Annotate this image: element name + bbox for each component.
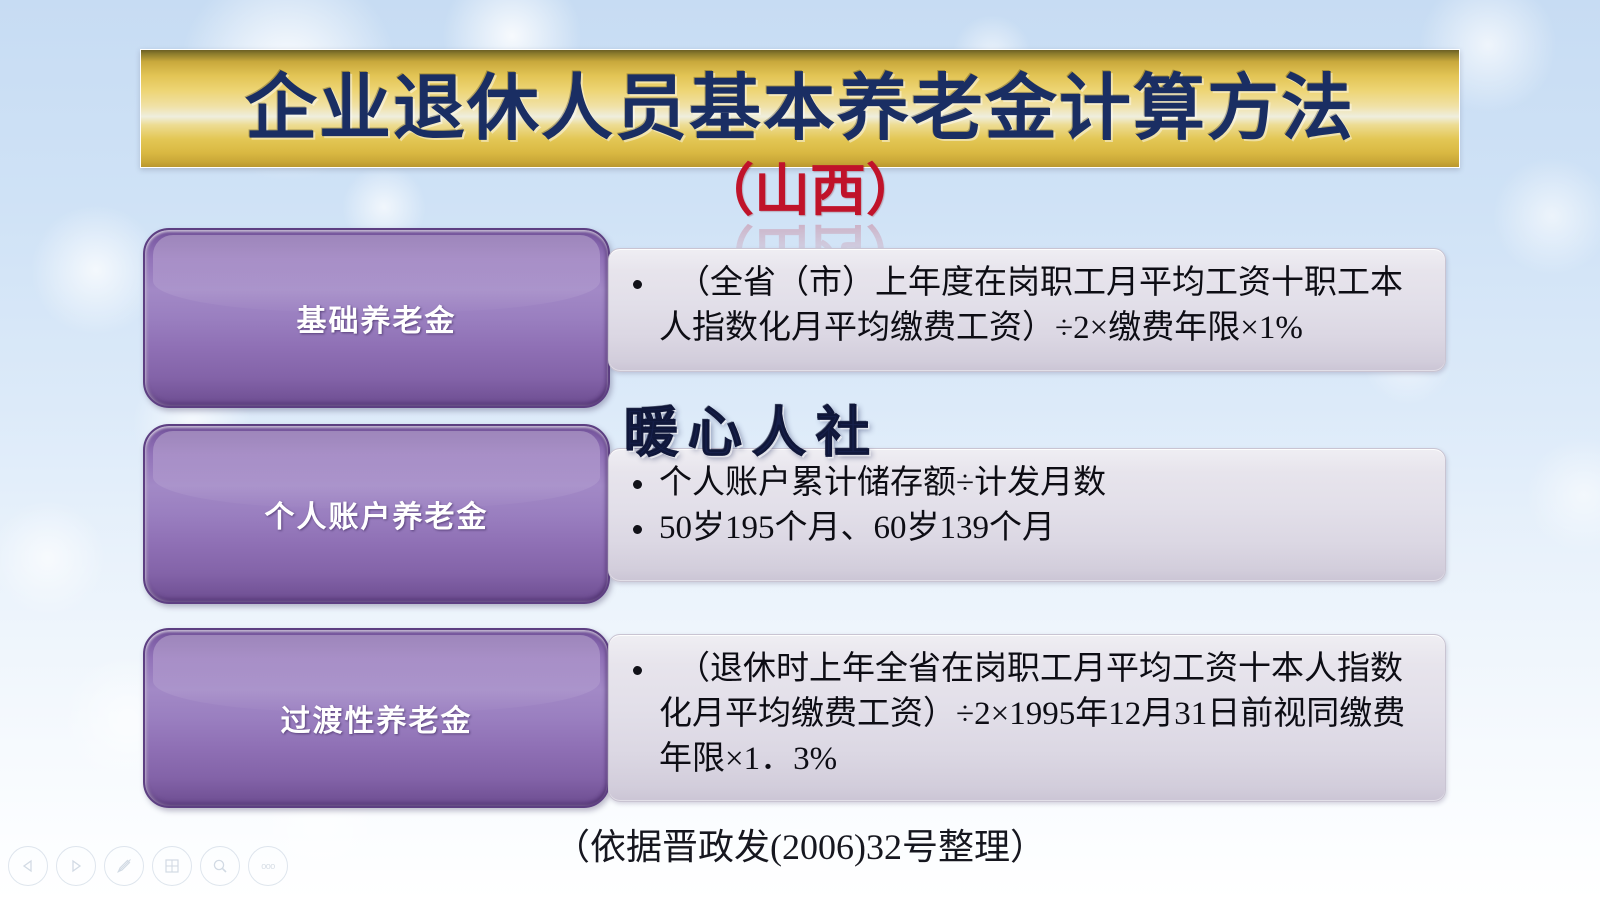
more-options-button[interactable]: ooo: [248, 846, 288, 886]
category-label: 基础养老金: [297, 296, 457, 340]
title-banner: 企业退休人员基本养老金计算方法: [140, 49, 1460, 168]
triangle-left-icon: [21, 859, 35, 873]
category-box-transitional-pension[interactable]: 过渡性养老金: [143, 628, 610, 808]
formula-panel-3: （退休时上年全省在岗职工月平均工资十本人指数化月平均缴费工资）÷2×1995年1…: [608, 634, 1446, 802]
bullet-list-1: （全省（市）上年度在岗职工月平均工资十职工本人指数化月平均缴费工资）÷2×缴费年…: [625, 261, 1427, 351]
subtitle: （山西）: [690, 163, 930, 222]
content-row-1: 基础养老金 （全省（市）上年度在岗职工月平均工资十职工本人指数化月平均缴费工资）…: [0, 228, 1600, 408]
content-row-3: 过渡性养老金 （退休时上年全省在岗职工月平均工资十本人指数化月平均缴费工资）÷2…: [0, 628, 1600, 808]
category-box-personal-account-pension[interactable]: 个人账户养老金: [143, 424, 610, 604]
magnifier-icon: [211, 857, 229, 875]
page-title: 企业退休人员基本养老金计算方法: [245, 73, 1355, 145]
zoom-button[interactable]: [200, 846, 240, 886]
list-item: 个人账户累计储存额÷计发月数: [625, 461, 1427, 506]
list-item: （全省（市）上年度在岗职工月平均工资十职工本人指数化月平均缴费工资）÷2×缴费年…: [625, 261, 1427, 351]
category-box-basic-pension[interactable]: 基础养老金: [143, 228, 610, 408]
pen-annotate-button[interactable]: [104, 846, 144, 886]
list-item: （退休时上年全省在岗职工月平均工资十本人指数化月平均缴费工资）÷2×1995年1…: [625, 647, 1427, 782]
pen-icon: [115, 857, 133, 875]
previous-slide-button[interactable]: [8, 846, 48, 886]
formula-panel-2: 个人账户累计储存额÷计发月数 50岁195个月、60岁139个月: [608, 448, 1446, 582]
bullet-list-3: （退休时上年全省在岗职工月平均工资十本人指数化月平均缴费工资）÷2×1995年1…: [625, 647, 1427, 782]
slide-grid-button[interactable]: [152, 846, 192, 886]
list-item: 50岁195个月、60岁139个月: [625, 506, 1427, 551]
presentation-slide: 企业退休人员基本养老金计算方法 （山西） （山西） 基础养老金 （全省（市）上年…: [0, 0, 1600, 900]
more-icon: ooo: [261, 861, 275, 871]
triangle-right-icon: [69, 859, 83, 873]
watermark: 暖心人社: [624, 388, 880, 467]
grid-icon: [163, 857, 181, 875]
category-label: 过渡性养老金: [281, 696, 473, 740]
category-label: 个人账户养老金: [265, 492, 489, 536]
player-toolbar: ooo: [8, 846, 288, 886]
next-slide-button[interactable]: [56, 846, 96, 886]
bullet-list-2: 个人账户累计储存额÷计发月数 50岁195个月、60岁139个月: [625, 461, 1427, 551]
formula-panel-1: （全省（市）上年度在岗职工月平均工资十职工本人指数化月平均缴费工资）÷2×缴费年…: [608, 248, 1446, 372]
